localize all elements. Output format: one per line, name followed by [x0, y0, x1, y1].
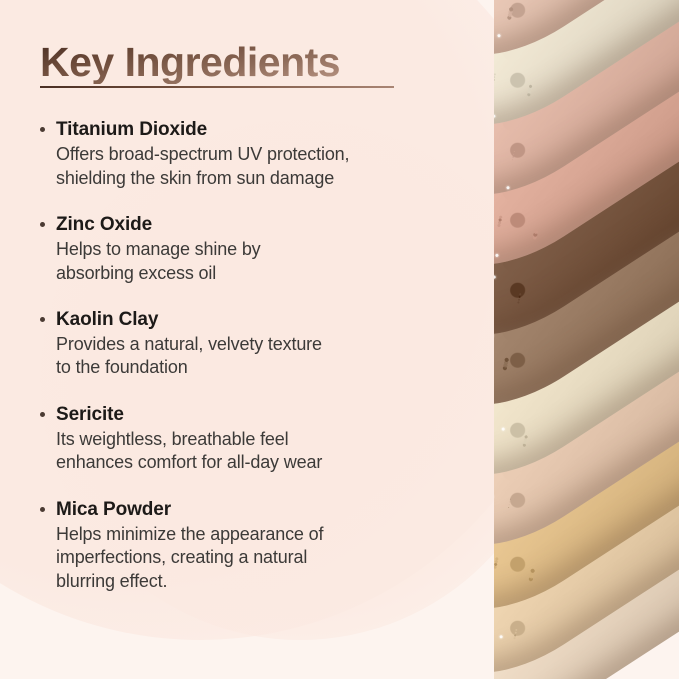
bullet-dot-icon — [40, 412, 45, 417]
ingredient-name: Sericite — [56, 403, 456, 426]
ingredient-description: Helps minimize the appearance of imperfe… — [56, 523, 456, 593]
list-item: Mica PowderHelps minimize the appearance… — [36, 498, 456, 593]
ingredient-name: Zinc Oxide — [56, 213, 456, 236]
page-title: Key Ingredients — [40, 41, 394, 84]
bullet-dot-icon — [40, 127, 45, 132]
ingredients-list: Titanium DioxideOffers broad-spectrum UV… — [36, 118, 456, 593]
ingredient-description: Helps to manage shine by absorbing exces… — [56, 238, 456, 285]
list-item: SericiteIts weightless, breathable feel … — [36, 403, 456, 475]
ingredient-name: Titanium Dioxide — [56, 118, 456, 141]
page-title-block: Key Ingredients — [40, 41, 394, 88]
title-underline — [40, 86, 394, 88]
text-column: Key Ingredients Titanium DioxideOffers b… — [0, 0, 470, 679]
powder-swatch-collage — [494, 0, 679, 679]
ingredient-description: Offers broad-spectrum UV protection, shi… — [56, 143, 456, 190]
ingredient-name: Mica Powder — [56, 498, 456, 521]
ingredient-name: Kaolin Clay — [56, 308, 456, 331]
ingredients-infographic: Key Ingredients Titanium DioxideOffers b… — [0, 0, 679, 679]
bullet-dot-icon — [40, 507, 45, 512]
ingredient-description: Provides a natural, velvety texture to t… — [56, 333, 456, 380]
list-item: Titanium DioxideOffers broad-spectrum UV… — [36, 118, 456, 190]
bullet-dot-icon — [40, 317, 45, 322]
list-item: Zinc OxideHelps to manage shine by absor… — [36, 213, 456, 285]
ingredient-description: Its weightless, breathable feel enhances… — [56, 428, 456, 475]
bullet-dot-icon — [40, 222, 45, 227]
list-item: Kaolin ClayProvides a natural, velvety t… — [36, 308, 456, 380]
